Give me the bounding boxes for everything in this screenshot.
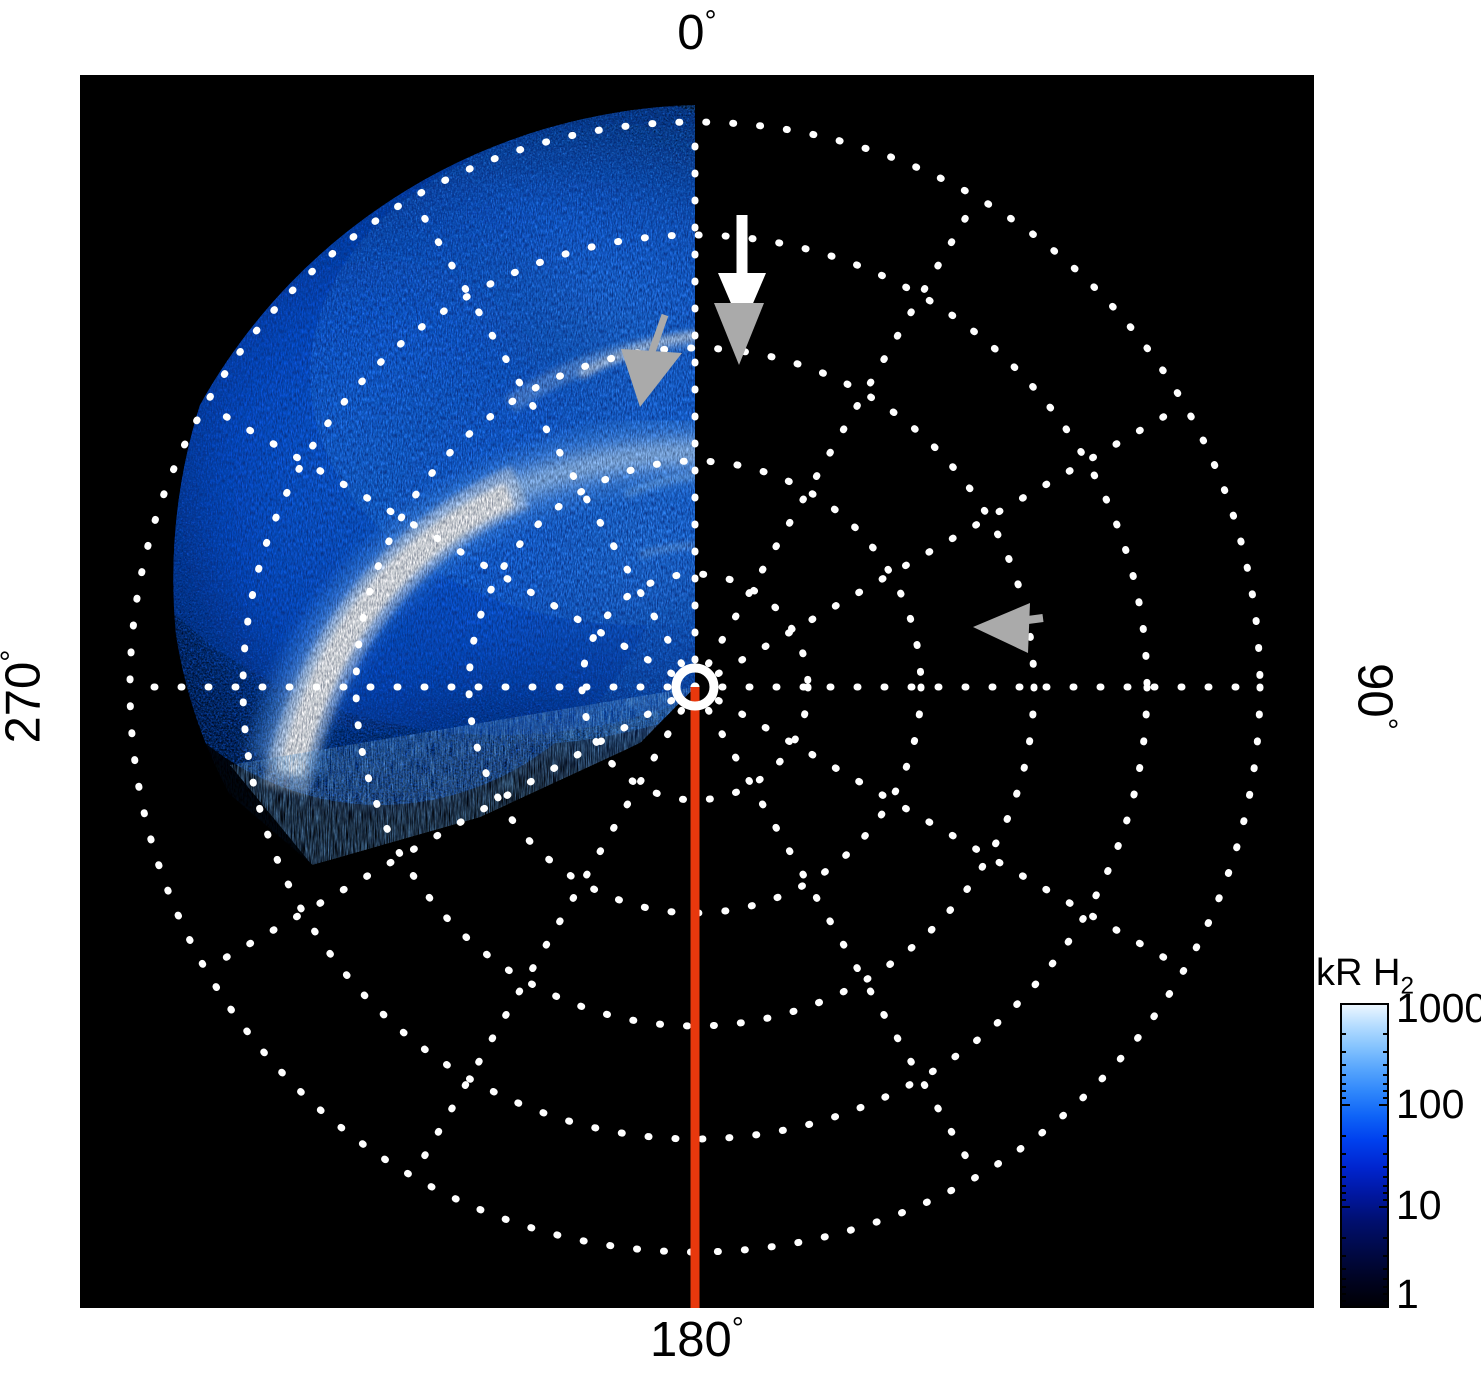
colorbar-minor-tick [1383,1176,1389,1178]
colorbar-minor-tick [1383,1097,1389,1099]
colorbar-minor-tick [1340,1268,1346,1270]
colorbar-tick-10-right [1379,1206,1389,1208]
colorbar-minor-tick [1383,1153,1389,1155]
colorbar-tick-100 [1340,1104,1350,1106]
colorbar: kR H2 [1316,952,1481,1322]
colorbar-tick-10 [1340,1206,1350,1208]
colorbar-minor-tick [1340,1153,1346,1155]
colorbar-minor-tick [1340,1090,1346,1092]
colorbar-minor-tick [1340,1278,1346,1280]
colorbar-tick-1000 [1340,1003,1350,1005]
gray-arrow-marker-1 [714,303,764,365]
colorbar-minor-tick [1340,1064,1346,1066]
colorbar-tick-1000-right [1379,1003,1389,1005]
colorbar-minor-tick [1383,1278,1389,1280]
colorbar-minor-tick [1383,1293,1389,1295]
annotation-layer [80,75,1314,1308]
colorbar-tick-100-right [1379,1104,1389,1106]
colorbar-minor-tick [1340,1097,1346,1099]
colorbar-label-1: 1 [1396,1274,1419,1315]
colorbar-minor-tick [1383,1199,1389,1201]
colorbar-label-1000: 1000 [1396,988,1481,1029]
colorbar-minor-tick [1340,1286,1346,1288]
colorbar-minor-tick [1383,1033,1389,1035]
colorbar-minor-tick [1383,1166,1389,1168]
colorbar-minor-tick [1340,1074,1346,1076]
polar-plot-area [80,75,1314,1308]
gray-arrow-marker-3 [973,603,1043,653]
colorbar-minor-tick [1340,1033,1346,1035]
colorbar-minor-tick [1340,1176,1346,1178]
colorbar-minor-tick [1340,1192,1346,1194]
axis-label-top: 0° [0,9,1394,58]
colorbar-minor-tick [1340,1135,1346,1137]
axis-label-bottom: 180° [0,1316,1394,1365]
gray-arrow-marker-2 [621,315,682,407]
colorbar-minor-tick [1340,1083,1346,1085]
colorbar-tick-1 [1340,1306,1350,1308]
colorbar-minor-tick [1383,1255,1389,1257]
colorbar-label-10: 10 [1396,1185,1442,1226]
colorbar-minor-tick [1383,1074,1389,1076]
colorbar-minor-tick [1340,1300,1346,1302]
colorbar-minor-tick [1383,1090,1389,1092]
axis-label-left: 270° [0,597,49,797]
colorbar-minor-tick [1383,1192,1389,1194]
colorbar-gradient [1340,1003,1389,1308]
colorbar-minor-tick [1383,1268,1389,1270]
colorbar-minor-tick [1383,1051,1389,1053]
colorbar-minor-tick [1340,1166,1346,1168]
colorbar-minor-tick [1383,1083,1389,1085]
axis-label-right: 90° [1350,597,1399,797]
colorbar-tick-1-right [1379,1306,1389,1308]
colorbar-minor-tick [1340,1051,1346,1053]
colorbar-minor-tick [1340,1255,1346,1257]
colorbar-minor-tick [1340,1237,1346,1239]
colorbar-minor-tick [1340,1293,1346,1295]
colorbar-minor-tick [1340,1199,1346,1201]
colorbar-minor-tick [1383,1286,1389,1288]
colorbar-minor-tick [1383,1135,1389,1137]
colorbar-minor-tick [1340,1185,1346,1187]
colorbar-minor-tick [1383,1237,1389,1239]
figure-root: 0° 180° 270° 90° kR H2 [0,0,1481,1384]
colorbar-minor-tick [1383,1064,1389,1066]
colorbar-minor-tick [1383,1185,1389,1187]
colorbar-minor-tick [1383,1300,1389,1302]
colorbar-label-100: 100 [1396,1084,1464,1125]
